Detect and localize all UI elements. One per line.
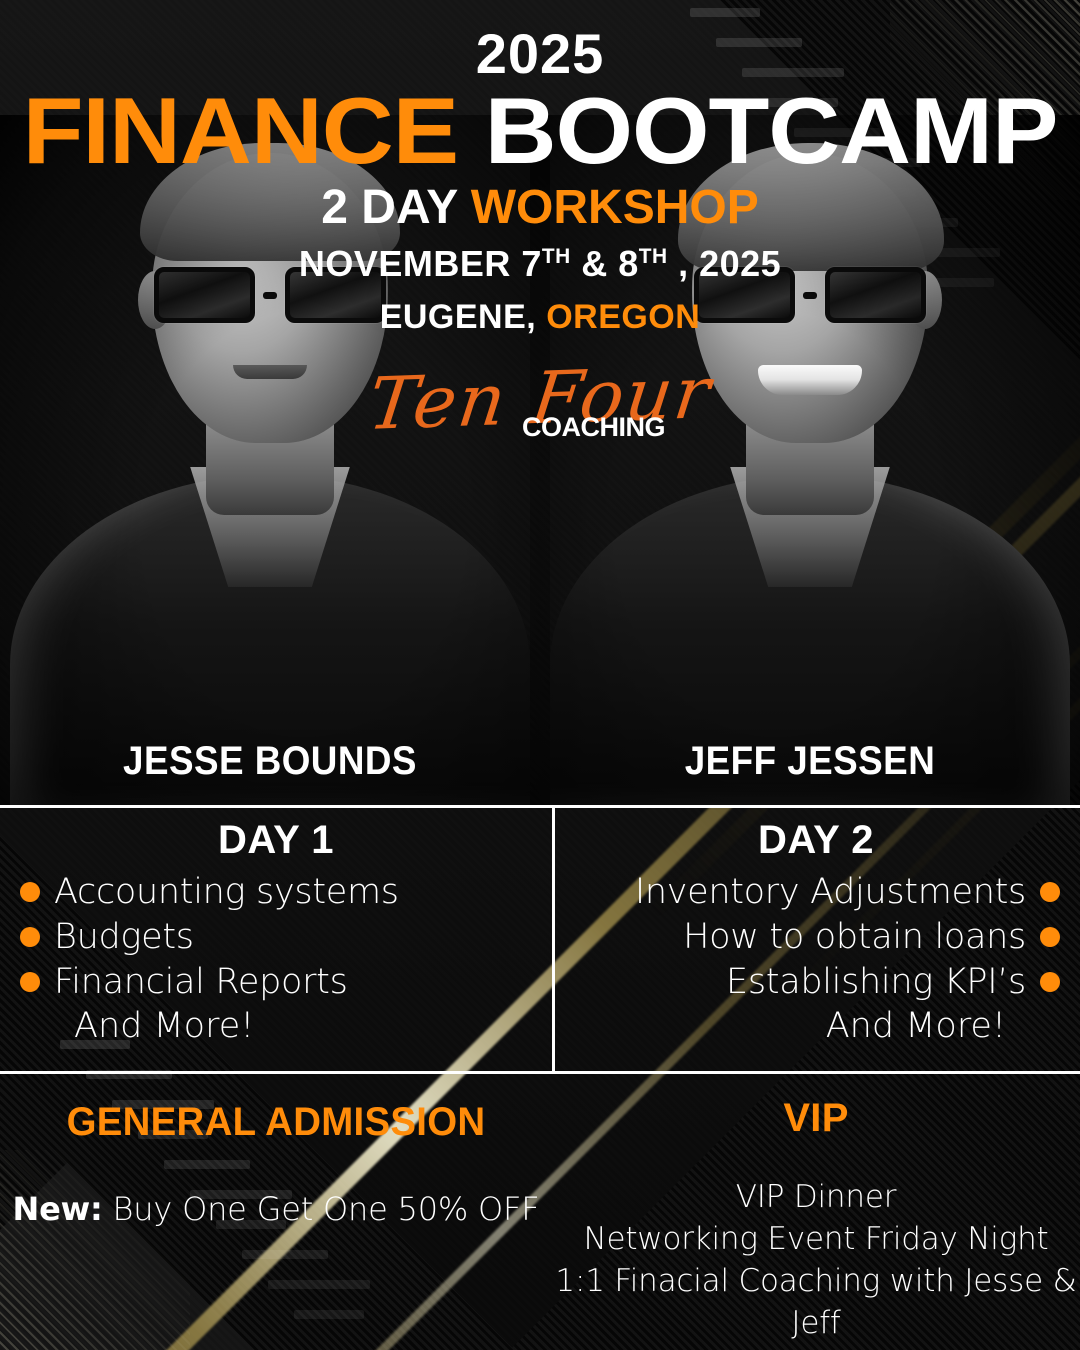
- list-item: Budgets: [0, 915, 552, 960]
- event-date: NOVEMBER 7TH & 8TH , 2025: [0, 246, 1080, 282]
- event-title-finance: FINANCE: [23, 78, 458, 183]
- divider-top: [0, 805, 1080, 808]
- event-title: FINANCE BOOTCAMP: [0, 86, 1080, 176]
- topic-label: Budgets: [54, 915, 194, 960]
- headline-block: 2025 FINANCE BOOTCAMP 2 DAY WORKSHOP NOV…: [0, 0, 1080, 334]
- event-subtitle: 2 DAY WORKSHOP: [0, 184, 1080, 232]
- general-admission-offer: New: Buy One Get One 50% OFF: [0, 1190, 552, 1228]
- agenda-day-1: DAY 1 Accounting systems Budgets Financi…: [0, 808, 552, 1071]
- date-ordinal-first: TH: [542, 245, 571, 268]
- bullet-dot-icon: [20, 972, 40, 992]
- bullet-dot-icon: [1040, 882, 1060, 902]
- subtitle-duration: 2 DAY: [321, 181, 457, 234]
- day-2-title: DAY 2: [552, 820, 1080, 860]
- date-prefix: NOVEMBER 7: [299, 243, 542, 284]
- logo-wordmark: COACHING: [522, 414, 665, 441]
- subtitle-workshop: WORKSHOP: [471, 181, 759, 234]
- offer-text: Buy One Get One 50% OFF: [103, 1190, 540, 1228]
- event-title-bootcamp: BOOTCAMP: [485, 78, 1058, 183]
- ticket-general-admission: GENERAL ADMISSION New: Buy One Get One 5…: [0, 1074, 552, 1350]
- hero-section: 2025 FINANCE BOOTCAMP 2 DAY WORKSHOP NOV…: [0, 0, 1080, 805]
- list-item: VIP Dinner: [552, 1176, 1080, 1218]
- general-admission-title: GENERAL ADMISSION: [11, 1102, 541, 1142]
- day-1-more-label: And More!: [0, 1004, 552, 1049]
- vip-perk-list: VIP Dinner Networking Event Friday Night…: [552, 1176, 1080, 1345]
- date-suffix: , 2025: [668, 243, 782, 284]
- location-state: OREGON: [546, 298, 700, 336]
- brand-logo: Ten Four COACHING: [0, 362, 1080, 434]
- day-2-more-label: And More!: [552, 1004, 1080, 1049]
- topic-label: Accounting systems: [54, 870, 399, 915]
- speaker-names: JESSE BOUNDS JEFF JESSEN: [0, 741, 1080, 781]
- bullet-dot-icon: [20, 882, 40, 902]
- bullet-dot-icon: [20, 927, 40, 947]
- speaker-name-2: JEFF JESSEN: [562, 741, 1059, 781]
- topic-label: Financial Reports: [54, 960, 348, 1005]
- list-item: Accounting systems: [0, 870, 552, 915]
- list-item: Establishing KPI’s: [552, 960, 1080, 1005]
- tickets-section: GENERAL ADMISSION New: Buy One Get One 5…: [0, 1074, 1080, 1350]
- divider-bottom: [0, 1071, 1080, 1074]
- divider-vertical: [552, 808, 555, 1071]
- topic-label: How to obtain loans: [683, 915, 1026, 960]
- bullet-dot-icon: [1040, 927, 1060, 947]
- event-poster: 2025 FINANCE BOOTCAMP 2 DAY WORKSHOP NOV…: [0, 0, 1080, 1350]
- offer-badge: New:: [13, 1190, 103, 1228]
- list-item: How to obtain loans: [552, 915, 1080, 960]
- speaker-name-1: JESSE BOUNDS: [22, 741, 519, 781]
- topic-label: Inventory Adjustments: [635, 870, 1026, 915]
- list-item: Inventory Adjustments: [552, 870, 1080, 915]
- vip-title: VIP: [552, 1098, 1080, 1138]
- location-city: EUGENE,: [380, 298, 537, 336]
- list-item: 1:1 Finacial Coaching with Jesse & Jeff: [552, 1260, 1080, 1344]
- date-ordinal-second: TH: [639, 245, 668, 268]
- day-1-title: DAY 1: [0, 820, 552, 860]
- event-year: 2025: [0, 26, 1080, 82]
- event-location: EUGENE, OREGON: [0, 300, 1080, 334]
- date-middle: & 8: [571, 243, 639, 284]
- agenda-section: DAY 1 Accounting systems Budgets Financi…: [0, 808, 1080, 1071]
- list-item: Networking Event Friday Night: [552, 1218, 1080, 1260]
- agenda-day-2: DAY 2 Inventory Adjustments How to obtai…: [552, 808, 1080, 1071]
- list-item: Financial Reports: [0, 960, 552, 1005]
- ticket-vip: VIP VIP Dinner Networking Event Friday N…: [552, 1074, 1080, 1350]
- topic-label: Establishing KPI’s: [726, 960, 1026, 1005]
- bullet-dot-icon: [1040, 972, 1060, 992]
- day-2-topic-list: Inventory Adjustments How to obtain loan…: [552, 870, 1080, 1004]
- day-1-topic-list: Accounting systems Budgets Financial Rep…: [0, 870, 552, 1004]
